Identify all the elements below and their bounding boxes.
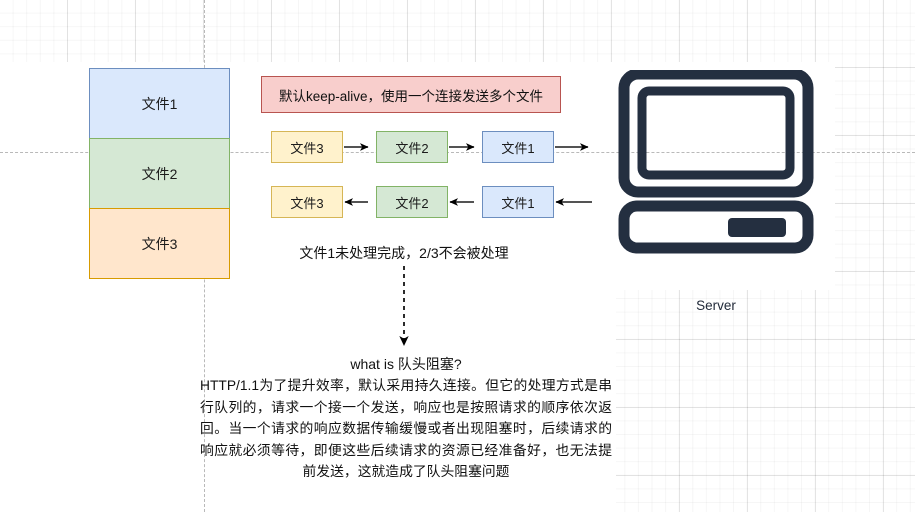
explanation-block: what is 队头阻塞? HTTP/1.1为了提升效率，默认采用持久连接。但它… <box>200 353 612 483</box>
response-packet-1[interactable]: 文件1 <box>482 186 554 218</box>
keepalive-banner[interactable]: 默认keep-alive，使用一个连接发送多个文件 <box>261 76 561 113</box>
blocked-caption: 文件1未处理完成，2/3不会被处理 <box>204 243 604 263</box>
packet-label: 文件2 <box>395 193 428 212</box>
server-label: Server <box>656 298 776 313</box>
explanation-body: HTTP/1.1为了提升效率，默认采用持久连接。但它的处理方式是串行队列的，请求… <box>200 375 612 483</box>
diagram-canvas: 文件1 文件2 文件3 默认keep-alive，使用一个连接发送多个文件 文件… <box>0 0 915 512</box>
packet-label: 文件3 <box>290 193 323 212</box>
server-label-text: Server <box>696 298 736 313</box>
server-monitor-icon <box>618 70 814 270</box>
file-block-label: 文件3 <box>142 234 178 254</box>
request-packet-3[interactable]: 文件3 <box>271 131 343 163</box>
file-block-2[interactable]: 文件2 <box>89 138 230 209</box>
response-packet-3[interactable]: 文件3 <box>271 186 343 218</box>
packet-label: 文件3 <box>290 138 323 157</box>
file-block-label: 文件1 <box>142 94 178 114</box>
request-packet-1[interactable]: 文件1 <box>482 131 554 163</box>
file-block-1[interactable]: 文件1 <box>89 68 230 139</box>
explanation-title: what is 队头阻塞? <box>200 353 612 375</box>
file-block-label: 文件2 <box>142 164 178 184</box>
packet-label: 文件2 <box>395 138 428 157</box>
keepalive-banner-label: 默认keep-alive，使用一个连接发送多个文件 <box>279 85 543 105</box>
request-packet-2[interactable]: 文件2 <box>376 131 448 163</box>
packet-label: 文件1 <box>501 193 534 212</box>
packet-label: 文件1 <box>501 138 534 157</box>
response-packet-2[interactable]: 文件2 <box>376 186 448 218</box>
blocked-caption-label: 文件1未处理完成，2/3不会被处理 <box>299 245 508 261</box>
